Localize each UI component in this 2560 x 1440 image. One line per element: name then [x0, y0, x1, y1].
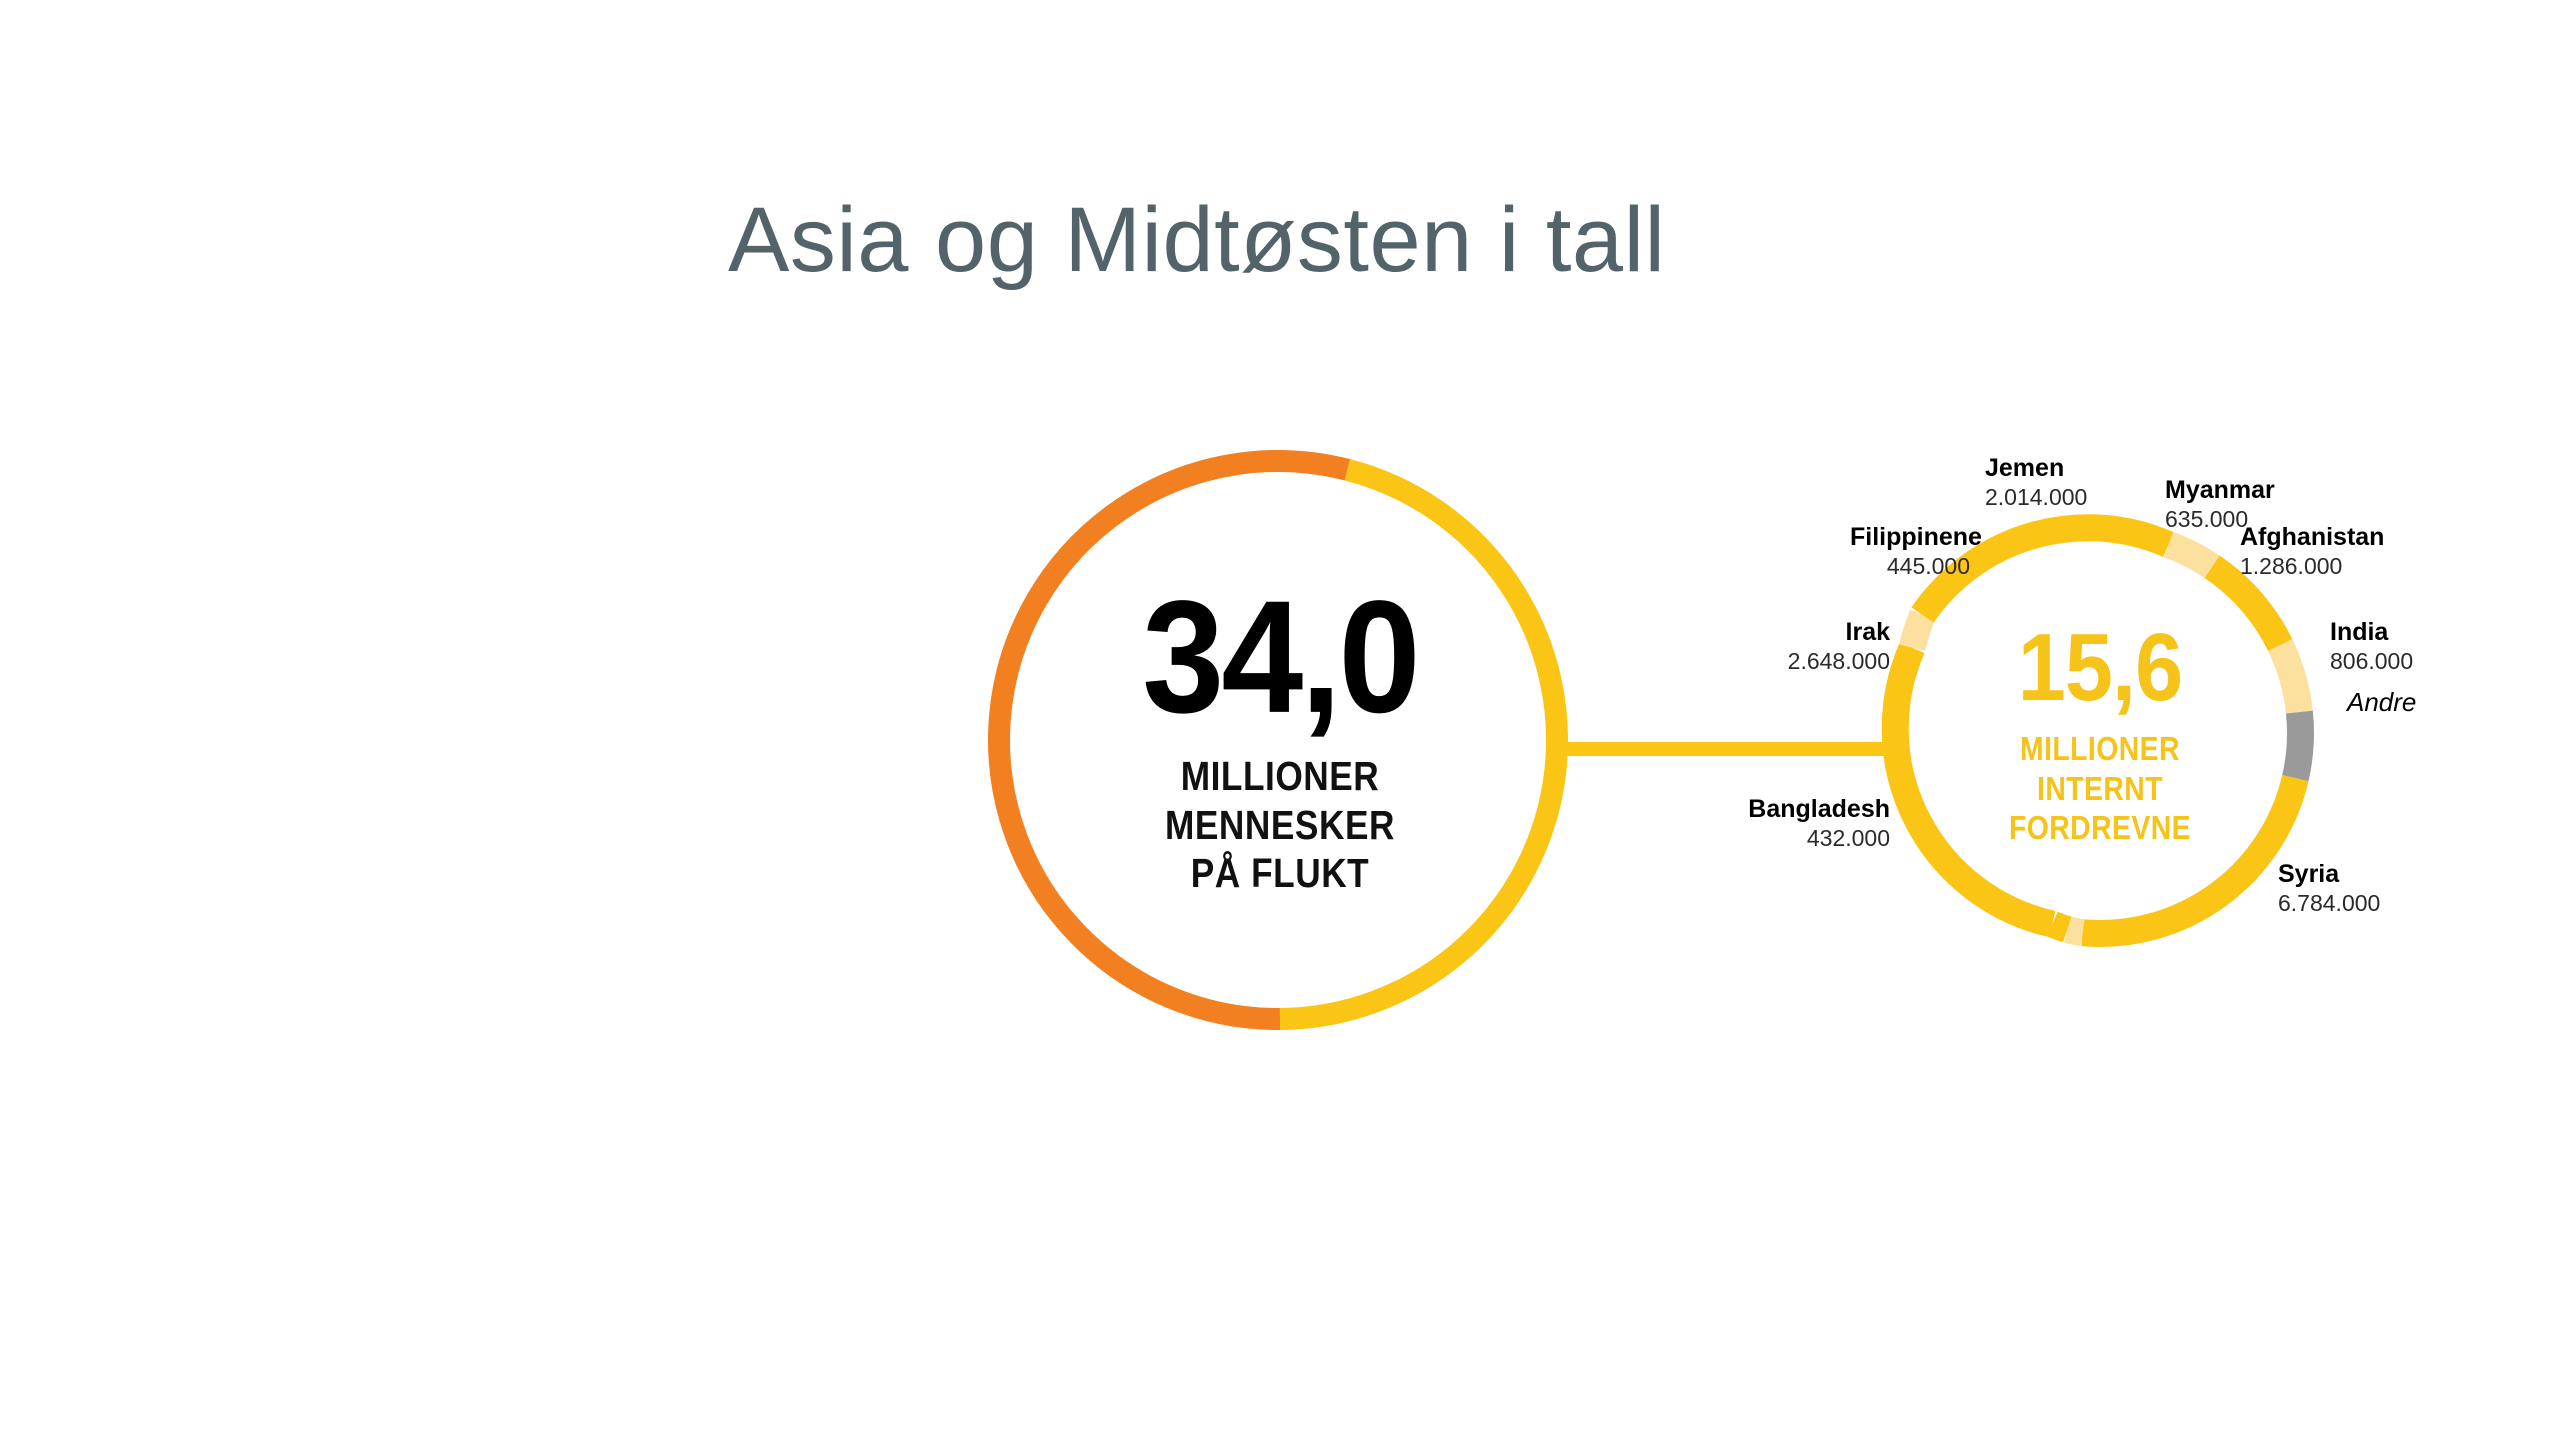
callout-filippinene-value: 445.000	[1850, 553, 1970, 579]
callout-jemen-value: 2.014.000	[1985, 484, 2087, 510]
callout-irak-name: Irak	[1780, 618, 1890, 647]
callout-india-name: India	[2330, 618, 2413, 647]
right-donut-caption-line-2: INTERNT	[2037, 770, 2163, 807]
callout-filippinene: Filippinene 445.000	[1850, 523, 1970, 579]
callout-afghanistan-name: Afghanistan	[2240, 523, 2384, 552]
callout-andre-name: Andre	[2347, 688, 2416, 718]
right-donut-segment-myanmar	[2169, 545, 2213, 567]
right-donut-segment-filippinene	[1912, 615, 1922, 648]
callout-andre: Andre	[2347, 688, 2416, 718]
infographic-figure: 34,0 MILLIONER MENNESKER PÅ FLUKT 15,6 M…	[0, 0, 2560, 1440]
left-donut-caption-line-2: MENNESKER	[1165, 801, 1395, 847]
callout-syria-name: Syria	[2278, 860, 2380, 889]
right-donut-center: 15,6 MILLIONER INTERNT FORDREVNE	[1930, 622, 2270, 848]
callout-bangladesh: Bangladesh 432.000	[1620, 795, 1890, 851]
callout-afghanistan: Afghanistan 1.286.000	[2240, 523, 2384, 579]
right-donut-value: 15,6	[1947, 622, 2253, 713]
right-donut-caption-line-3: FORDREVNE	[2009, 809, 2191, 846]
callout-india: India 806.000	[2330, 618, 2413, 674]
callout-syria: Syria 6.784.000	[2278, 860, 2380, 916]
callout-india-value: 806.000	[2330, 648, 2413, 674]
left-donut-caption-line-1: MILLIONER	[1181, 753, 1380, 799]
right-donut-caption: MILLIONER INTERNT FORDREVNE	[1954, 729, 2246, 848]
callout-syria-value: 6.784.000	[2278, 890, 2380, 916]
callout-irak-value: 2.648.000	[1780, 648, 1890, 674]
callout-jemen-name: Jemen	[1985, 454, 2087, 483]
left-donut-value: 34,0	[1068, 583, 1491, 730]
callout-bangladesh-value: 432.000	[1620, 825, 1890, 851]
donut-connector-line	[1565, 742, 1895, 756]
right-donut-caption-line-1: MILLIONER	[2020, 730, 2180, 767]
right-donut-segment-bangladesh	[2067, 930, 2082, 933]
right-donut-segment-india	[2280, 645, 2299, 712]
callout-irak: Irak 2.648.000	[1780, 618, 1890, 674]
right-donut-segment-lower-left	[2052, 924, 2067, 930]
left-donut-caption-line-3: PÅ FLUKT	[1191, 850, 1369, 896]
callout-afghanistan-value: 1.286.000	[2240, 553, 2384, 579]
right-donut-segment-andre	[2295, 712, 2300, 778]
left-donut-caption: MILLIONER MENNESKER PÅ FLUKT	[1082, 752, 1478, 897]
callout-filippinene-name: Filippinene	[1850, 523, 1970, 552]
callout-bangladesh-name: Bangladesh	[1620, 795, 1890, 824]
callout-jemen: Jemen 2.014.000	[1985, 454, 2087, 510]
left-donut-center: 34,0 MILLIONER MENNESKER PÅ FLUKT	[1050, 583, 1510, 897]
callout-myanmar-name: Myanmar	[2165, 476, 2275, 505]
